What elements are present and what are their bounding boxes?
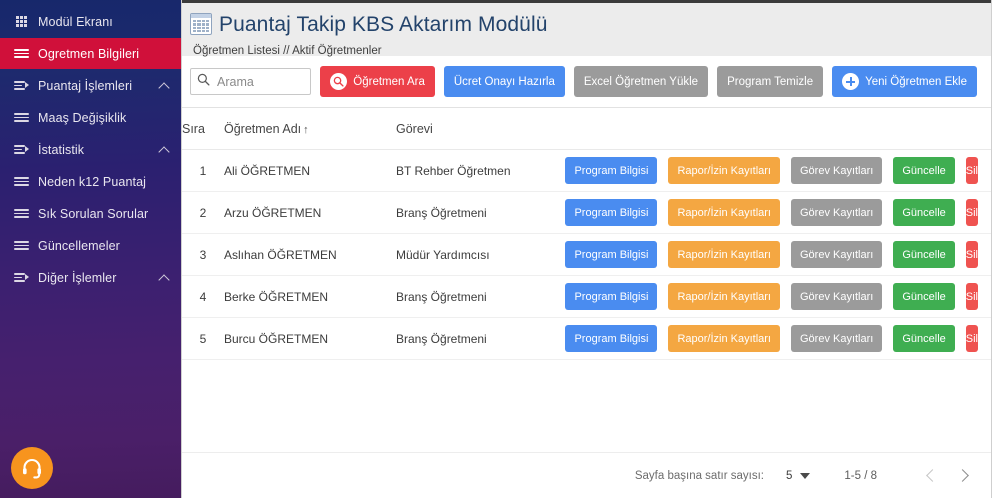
title-row: Puantaj Takip KBS Aktarım Modülü [190, 9, 991, 39]
sidebar-item-neden-k12-puantaj[interactable]: Neden k12 Puantaj [0, 166, 181, 197]
column-label: Öğretmen Adı [224, 122, 301, 136]
rapor-izin-kayitlari-button[interactable]: Rapor/İzin Kayıtları [668, 325, 780, 352]
teachers-table: Sıra Öğretmen Adı↑ Görevi 1 Ali ÖĞRETMEN… [182, 108, 991, 360]
column-header-gorevi[interactable]: Görevi [396, 108, 571, 150]
button-label: Program Temizle [727, 76, 813, 88]
rows-per-page-label: Sayfa başına satır sayısı: [635, 470, 764, 482]
table-row[interactable]: 3 Aslıhan ÖĞRETMEN Müdür Yardımcısı Prog… [182, 234, 991, 276]
gorev-kayitlari-button[interactable]: Görev Kayıtları [791, 241, 882, 268]
chevron-left-icon[interactable] [917, 461, 947, 491]
button-label: Ücret Onayı Hazırla [454, 76, 555, 88]
cell-actions: Program Bilgisi Rapor/İzin Kayıtları Gör… [571, 150, 991, 192]
sidebar-item-label: Ogretmen Bilgileri [38, 47, 139, 61]
sidebar-item-sik-sorulan-sorular[interactable]: Sık Sorulan Sorular [0, 198, 181, 229]
right-rail [992, 0, 1000, 498]
table-head: Sıra Öğretmen Adı↑ Görevi [182, 108, 991, 150]
cell-actions: Program Bilgisi Rapor/İzin Kayıtları Gör… [571, 192, 991, 234]
sidebar-item-label: Diğer İşlemler [38, 271, 117, 285]
cell-gorevi: Branş Öğretmeni [396, 192, 571, 234]
guncelle-button[interactable]: Güncelle [893, 241, 954, 268]
gorev-kayitlari-button[interactable]: Görev Kayıtları [791, 325, 882, 352]
menu-arrow-icon [14, 79, 29, 92]
sidebar-item-label: İstatistik [38, 143, 84, 157]
column-header-actions [571, 108, 991, 150]
menu-icon [14, 47, 29, 60]
program-bilgisi-button[interactable]: Program Bilgisi [565, 157, 657, 184]
sil-button[interactable]: Sil [966, 199, 978, 226]
sil-button[interactable]: Sil [966, 325, 978, 352]
sidebar-item-puantaj-islemleri[interactable]: Puantaj İşlemleri [0, 70, 181, 101]
rapor-izin-kayitlari-button[interactable]: Rapor/İzin Kayıtları [668, 199, 780, 226]
main-panel: Puantaj Takip KBS Aktarım Modülü Öğretme… [181, 0, 992, 498]
guncelle-button[interactable]: Güncelle [893, 325, 954, 352]
cell-actions: Program Bilgisi Rapor/İzin Kayıtları Gör… [571, 276, 991, 318]
ogretmen-ara-button[interactable]: Öğretmen Ara [320, 66, 435, 97]
sil-button[interactable]: Sil [966, 283, 978, 310]
program-bilgisi-button[interactable]: Program Bilgisi [565, 283, 657, 310]
toolbar: Öğretmen Ara Ücret Onayı Hazırla Excel Ö… [182, 56, 991, 108]
page-header: Puantaj Takip KBS Aktarım Modülü Öğretme… [182, 0, 991, 56]
menu-arrow-icon [14, 271, 29, 284]
rows-per-page-value: 5 [786, 470, 792, 482]
cell-sira: 3 [182, 234, 224, 276]
search-circle-icon [330, 73, 347, 90]
menu-arrow-icon [14, 143, 29, 156]
cell-ogretmen-adi: Ali ÖĞRETMEN [224, 150, 396, 192]
chevron-right-icon[interactable] [947, 461, 977, 491]
headset-support-icon[interactable] [11, 447, 53, 489]
cell-gorevi: BT Rehber Öğretmen [396, 150, 571, 192]
chevron-down-icon [800, 473, 810, 479]
sort-asc-icon: ↑ [303, 124, 309, 136]
cell-sira: 5 [182, 318, 224, 360]
sil-button[interactable]: Sil [966, 241, 978, 268]
cell-ogretmen-adi: Berke ÖĞRETMEN [224, 276, 396, 318]
chevron-up-icon[interactable] [159, 80, 171, 92]
breadcrumb: Öğretmen Listesi // Aktif Öğretmenler [193, 45, 991, 57]
chevron-up-icon[interactable] [159, 272, 171, 284]
chevron-up-icon[interactable] [159, 144, 171, 156]
cell-sira: 1 [182, 150, 224, 192]
cell-actions: Program Bilgisi Rapor/İzin Kayıtları Gör… [571, 318, 991, 360]
cell-gorevi: Branş Öğretmeni [396, 276, 571, 318]
table-row[interactable]: 1 Ali ÖĞRETMEN BT Rehber Öğretmen Progra… [182, 150, 991, 192]
gorev-kayitlari-button[interactable]: Görev Kayıtları [791, 199, 882, 226]
menu-icon [14, 175, 29, 188]
button-label: Öğretmen Ara [353, 76, 425, 88]
rows-per-page-select[interactable]: 5 [786, 470, 810, 482]
menu-icon [14, 111, 29, 124]
rapor-izin-kayitlari-button[interactable]: Rapor/İzin Kayıtları [668, 283, 780, 310]
pagination-range: 1-5 / 8 [844, 470, 877, 482]
search-input[interactable] [217, 75, 304, 89]
menu-icon [14, 207, 29, 220]
button-label: Yeni Öğretmen Ekle [865, 76, 967, 88]
table-row[interactable]: 5 Burcu ÖĞRETMEN Branş Öğretmeni Program… [182, 318, 991, 360]
app-root: Modül Ekranı Ogretmen Bilgileri Puantaj … [0, 0, 1000, 498]
yeni-ogretmen-ekle-button[interactable]: Yeni Öğretmen Ekle [832, 66, 977, 97]
rapor-izin-kayitlari-button[interactable]: Rapor/İzin Kayıtları [668, 157, 780, 184]
pagination-bar: Sayfa başına satır sayısı: 5 1-5 / 8 [182, 452, 991, 498]
gorev-kayitlari-button[interactable]: Görev Kayıtları [791, 157, 882, 184]
guncelle-button[interactable]: Güncelle [893, 283, 954, 310]
program-temizle-button[interactable]: Program Temizle [717, 66, 823, 97]
sidebar-item-label: Sık Sorulan Sorular [38, 207, 148, 221]
cell-gorevi: Branş Öğretmeni [396, 318, 571, 360]
excel-ogretmen-yukle-button[interactable]: Excel Öğretmen Yükle [574, 66, 708, 97]
column-header-sira[interactable]: Sıra [182, 108, 224, 150]
table-header-row: Sıra Öğretmen Adı↑ Görevi [182, 108, 991, 150]
page-title: Puantaj Takip KBS Aktarım Modülü [219, 14, 547, 35]
rapor-izin-kayitlari-button[interactable]: Rapor/İzin Kayıtları [668, 241, 780, 268]
sidebar-item-ogretmen-bilgileri[interactable]: Ogretmen Bilgileri [0, 38, 181, 69]
ucret-onayi-hazirla-button[interactable]: Ücret Onayı Hazırla [444, 66, 565, 97]
sidebar-item-guncellemeler[interactable]: Güncellemeler [0, 230, 181, 261]
menu-icon [14, 239, 29, 252]
sidebar-item-diger-islemler[interactable]: Diğer İşlemler [0, 262, 181, 293]
table-row[interactable]: 4 Berke ÖĞRETMEN Branş Öğretmeni Program… [182, 276, 991, 318]
table-row[interactable]: 2 Arzu ÖĞRETMEN Branş Öğretmeni Program … [182, 192, 991, 234]
cell-ogretmen-adi: Aslıhan ÖĞRETMEN [224, 234, 396, 276]
sidebar-item-label: Güncellemeler [38, 239, 120, 253]
sil-button[interactable]: Sil [966, 157, 978, 184]
cell-actions: Program Bilgisi Rapor/İzin Kayıtları Gör… [571, 234, 991, 276]
program-bilgisi-button[interactable]: Program Bilgisi [565, 325, 657, 352]
cell-ogretmen-adi: Arzu ÖĞRETMEN [224, 192, 396, 234]
search-box[interactable] [190, 68, 311, 95]
program-bilgisi-button[interactable]: Program Bilgisi [565, 241, 657, 268]
search-icon [197, 73, 210, 91]
sidebar-item-label: Maaş Değişiklik [38, 111, 126, 125]
button-label: Excel Öğretmen Yükle [584, 76, 698, 88]
gorev-kayitlari-button[interactable]: Görev Kayıtları [791, 283, 882, 310]
sidebar-item-istatistik[interactable]: İstatistik [0, 134, 181, 165]
calendar-table-icon [190, 13, 212, 35]
cell-sira: 4 [182, 276, 224, 318]
sidebar-item-label: Modül Ekranı [38, 15, 113, 29]
sidebar-item-label: Puantaj İşlemleri [38, 79, 132, 93]
grid-icon [14, 15, 29, 28]
guncelle-button[interactable]: Güncelle [893, 157, 954, 184]
column-header-ogretmen-adi[interactable]: Öğretmen Adı↑ [224, 108, 396, 150]
table-body: 1 Ali ÖĞRETMEN BT Rehber Öğretmen Progra… [182, 150, 991, 360]
sidebar-item-label: Neden k12 Puantaj [38, 175, 146, 189]
sidebar-item-maas-degisiklik[interactable]: Maaş Değişiklik [0, 102, 181, 133]
program-bilgisi-button[interactable]: Program Bilgisi [565, 199, 657, 226]
cell-ogretmen-adi: Burcu ÖĞRETMEN [224, 318, 396, 360]
sidebar: Modül Ekranı Ogretmen Bilgileri Puantaj … [0, 0, 181, 498]
guncelle-button[interactable]: Güncelle [893, 199, 954, 226]
cell-sira: 2 [182, 192, 224, 234]
cell-gorevi: Müdür Yardımcısı [396, 234, 571, 276]
plus-circle-icon [842, 73, 859, 90]
sidebar-item-modul-ekrani[interactable]: Modül Ekranı [0, 6, 181, 37]
